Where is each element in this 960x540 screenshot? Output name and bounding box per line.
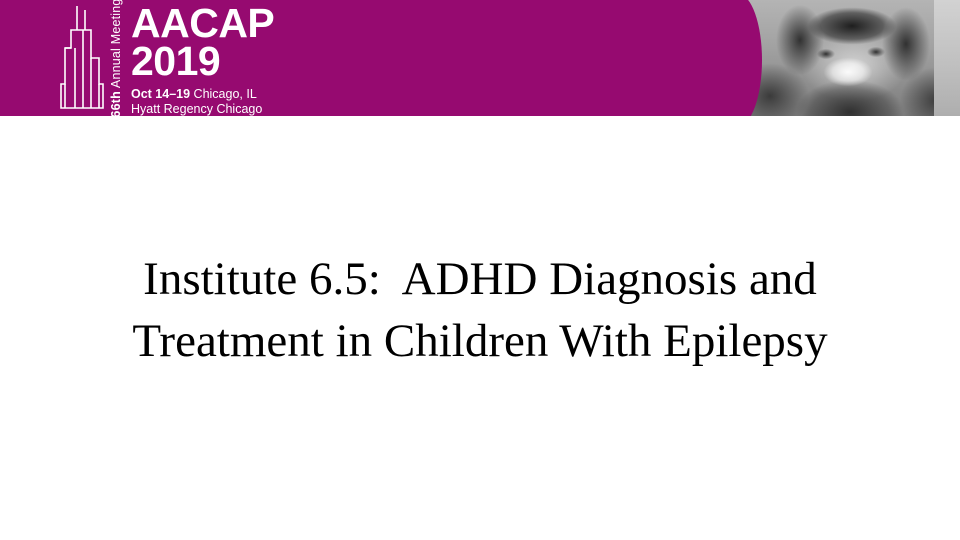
meeting-venue-info: Oct 14–19 Chicago, IL Hyatt Regency Chic… bbox=[131, 87, 274, 116]
aacap-logo-lockup: 66th Annual Meeting AACAP 2019 Oct 14–19… bbox=[58, 4, 274, 112]
willis-tower-outline-icon bbox=[58, 4, 106, 112]
aacap-wordmark: AACAP bbox=[131, 5, 274, 41]
meeting-dates-line: Oct 14–19 Chicago, IL bbox=[131, 87, 274, 102]
meeting-dates: Oct 14–19 bbox=[131, 87, 190, 101]
aacap-wordmark-block: AACAP 2019 Oct 14–19 Chicago, IL Hyatt R… bbox=[131, 4, 274, 112]
slide-title-line-1: Institute 6.5: ADHD Diagnosis and bbox=[0, 248, 960, 310]
child-photo-image bbox=[730, 0, 960, 116]
meeting-year: 2019 bbox=[131, 43, 274, 79]
meeting-city: Chicago, IL bbox=[190, 87, 257, 101]
photo-right-edge bbox=[934, 0, 960, 116]
header-photo bbox=[730, 0, 960, 116]
presentation-slide: 66th Annual Meeting AACAP 2019 Oct 14–19… bbox=[0, 0, 960, 540]
slide-title: Institute 6.5: ADHD Diagnosis and Treatm… bbox=[0, 248, 960, 372]
slide-header-band: 66th Annual Meeting AACAP 2019 Oct 14–19… bbox=[0, 0, 960, 116]
meeting-ordinal: 66th bbox=[109, 91, 123, 116]
annual-meeting-vertical-label: 66th Annual Meeting bbox=[106, 4, 126, 112]
meeting-label: Annual Meeting bbox=[109, 0, 123, 91]
slide-title-line-2: Treatment in Children With Epilepsy bbox=[0, 310, 960, 372]
meeting-venue: Hyatt Regency Chicago bbox=[131, 102, 274, 116]
